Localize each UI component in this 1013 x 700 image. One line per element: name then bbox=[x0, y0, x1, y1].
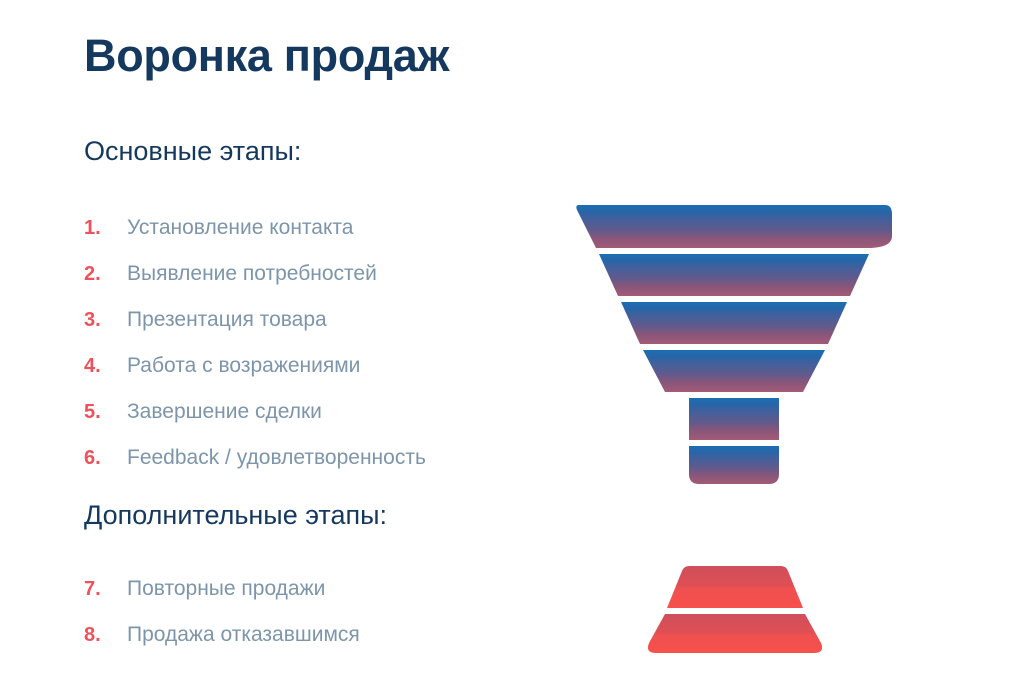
list-item-number: 6. bbox=[84, 435, 127, 481]
text-column: Воронка продаж Основные этапы: 1. Устано… bbox=[84, 0, 554, 700]
funnel-main-chart bbox=[555, 196, 935, 486]
funnel-extra-chart bbox=[555, 556, 935, 666]
funnel-extra-segment-7[interactable] bbox=[667, 566, 803, 608]
list-item-label: Работа с возражениями bbox=[127, 343, 360, 389]
funnel-graphics bbox=[555, 0, 1013, 700]
list-item[interactable]: 3. Презентация товара bbox=[84, 297, 426, 343]
slide-canvas: Воронка продаж Основные этапы: 1. Устано… bbox=[0, 0, 1013, 700]
stage-list-main: 1. Установление контакта 2. Выявление по… bbox=[84, 205, 426, 481]
list-item-label: Feedback / удовлетворенность bbox=[127, 435, 426, 481]
list-item-number: 8. bbox=[84, 612, 127, 658]
stage-list-extra: 7. Повторные продажи 8. Продажа отказавш… bbox=[84, 566, 360, 658]
funnel-segment-6[interactable] bbox=[689, 446, 779, 484]
page-title: Воронка продаж bbox=[84, 32, 449, 79]
funnel-segment-5[interactable] bbox=[689, 398, 779, 440]
funnel-segment-1[interactable] bbox=[576, 205, 892, 248]
list-item[interactable]: 5. Завершение сделки bbox=[84, 389, 426, 435]
section-heading-extra: Дополнительные этапы: bbox=[84, 500, 387, 531]
list-item[interactable]: 4. Работа с возражениями bbox=[84, 343, 426, 389]
funnel-segment-4[interactable] bbox=[643, 350, 825, 392]
list-item[interactable]: 6. Feedback / удовлетворенность bbox=[84, 435, 426, 481]
list-item-label: Установление контакта bbox=[127, 205, 353, 251]
funnel-segment-3[interactable] bbox=[621, 302, 847, 344]
list-item[interactable]: 1. Установление контакта bbox=[84, 205, 426, 251]
section-heading-main: Основные этапы: bbox=[84, 136, 301, 167]
list-item-number: 1. bbox=[84, 205, 127, 251]
list-item[interactable]: 8. Продажа отказавшимся bbox=[84, 612, 360, 658]
list-item-number: 5. bbox=[84, 389, 127, 435]
list-item-label: Выявление потребностей bbox=[127, 251, 377, 297]
list-item-label: Завершение сделки bbox=[127, 389, 322, 435]
list-item-number: 3. bbox=[84, 297, 127, 343]
list-item-label: Презентация товара bbox=[127, 297, 327, 343]
list-item[interactable]: 7. Повторные продажи bbox=[84, 566, 360, 612]
funnel-extra-segment-8[interactable] bbox=[648, 614, 822, 653]
list-item-number: 7. bbox=[84, 566, 127, 612]
list-item[interactable]: 2. Выявление потребностей bbox=[84, 251, 426, 297]
list-item-label: Продажа отказавшимся bbox=[127, 612, 360, 658]
list-item-number: 2. bbox=[84, 251, 127, 297]
list-item-label: Повторные продажи bbox=[127, 566, 325, 612]
funnel-segment-2[interactable] bbox=[599, 254, 869, 296]
list-item-number: 4. bbox=[84, 343, 127, 389]
